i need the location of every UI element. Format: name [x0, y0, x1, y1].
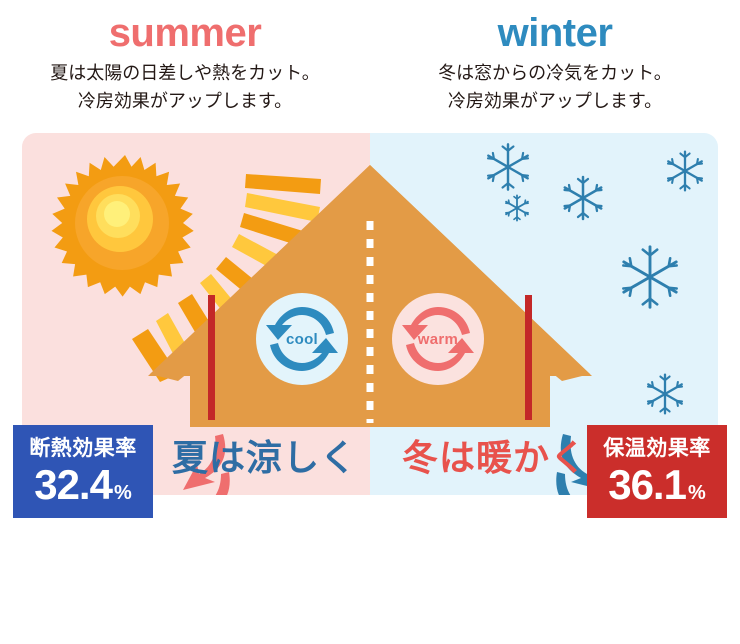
snowflake-icon: [502, 193, 532, 223]
winter-season-title: winter: [370, 13, 740, 53]
snowflake-icon: [481, 140, 535, 194]
retention-rate-badge: 保温効果率 36.1 %: [587, 425, 727, 518]
retention-rate-unit: %: [688, 483, 706, 503]
summer-season-title: summer: [0, 13, 370, 53]
infographic-root: summer 夏は太陽の日差しや熱をカット。 冷房効果がアップします。 wint…: [0, 0, 740, 644]
insulation-rate-value: 32.4 %: [34, 464, 132, 506]
insulation-rate-unit: %: [114, 483, 132, 503]
summer-description-line-2: 冷房効果がアップします。: [0, 88, 370, 116]
insulation-rate-badge: 断熱効果率 32.4 %: [13, 425, 153, 518]
retention-rate-title: 保温効果率: [603, 438, 711, 459]
winter-description-line-1: 冬は窓からの冷気をカット。: [370, 60, 740, 88]
retention-rate-number: 36.1: [608, 464, 686, 506]
snowflake-icon: [662, 148, 708, 194]
winter-heading-block: winter 冬は窓からの冷気をカット。 冷房効果がアップします。: [370, 0, 740, 133]
winter-description: 冬は窓からの冷気をカット。 冷房効果がアップします。: [370, 60, 740, 116]
snowflake-icon: [614, 241, 686, 313]
summer-description: 夏は太陽の日差しや熱をカット。 冷房効果がアップします。: [0, 60, 370, 116]
summer-description-line-1: 夏は太陽の日差しや熱をカット。: [0, 60, 370, 88]
snowflake-icon: [642, 371, 688, 417]
insulation-stripe-right: [525, 295, 532, 420]
snowflake-icon: [558, 173, 608, 223]
winter-caption: 冬は暖かく: [402, 429, 587, 481]
insulation-rate-title: 断熱効果率: [29, 438, 137, 459]
warm-label: warm: [418, 331, 458, 348]
insulation-rate-number: 32.4: [34, 464, 112, 506]
cool-label: cool: [286, 331, 318, 348]
winter-description-line-2: 冷房効果がアップします。: [370, 88, 740, 116]
cool-indicator: cool: [256, 293, 348, 385]
summer-caption: 夏は涼しく: [172, 429, 357, 481]
retention-rate-value: 36.1 %: [608, 464, 706, 506]
warm-indicator: warm: [392, 293, 484, 385]
summer-heading-block: summer 夏は太陽の日差しや熱をカット。 冷房効果がアップします。: [0, 0, 370, 133]
insulation-stripe-left: [208, 295, 215, 420]
